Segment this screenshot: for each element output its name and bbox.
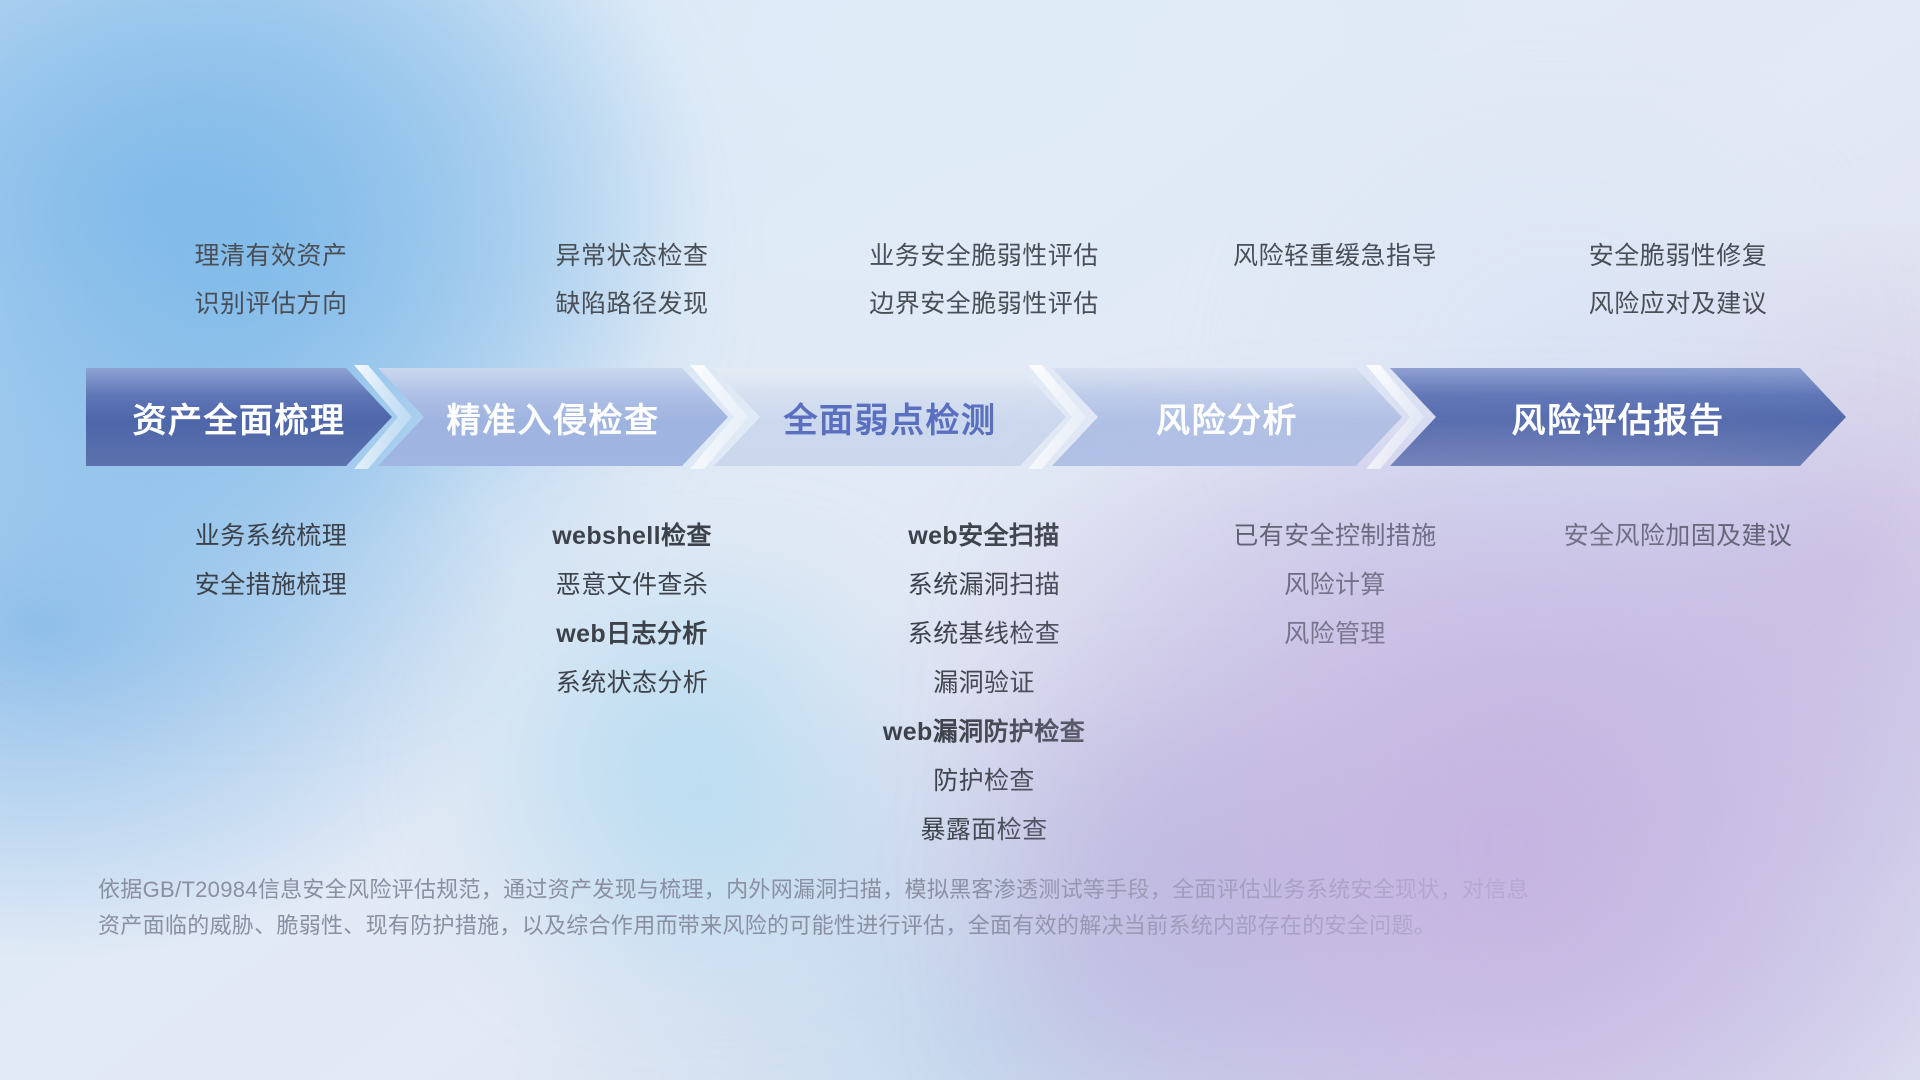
- stage-activities-intrusion-check: webshell检查 恶意文件查杀 web日志分析 系统状态分析: [456, 512, 808, 708]
- chevron-label: 资产全面梳理: [133, 393, 346, 442]
- chevron-stage-assessment-report[interactable]: 风险评估报告: [1390, 368, 1846, 466]
- activity-item: 系统漏洞扫描: [908, 561, 1060, 610]
- process-chevron-band: 资产全面梳理 精准入侵检查 全面弱点检测 风险分析 风险评估报告: [86, 368, 1846, 466]
- chevron-label: 精准入侵检查: [447, 393, 660, 442]
- activity-item: web漏洞防护检查: [883, 708, 1085, 757]
- slide-content: 理清有效资产 识别评估方向 异常状态检查 缺陷路径发现 业务安全脆弱性评估 边界…: [0, 0, 1920, 1080]
- activity-item: 已有安全控制措施: [1233, 512, 1436, 561]
- activity-item: webshell检查: [552, 512, 712, 561]
- activity-item: web日志分析: [556, 610, 707, 659]
- activity-item: 系统基线检查: [908, 610, 1060, 659]
- activity-item: 恶意文件查杀: [556, 561, 708, 610]
- slide-canvas: 理清有效资产 识别评估方向 异常状态检查 缺陷路径发现 业务安全脆弱性评估 边界…: [0, 0, 1920, 1080]
- stage-outcomes-risk-analysis: 风险轻重缓急指导: [1160, 232, 1510, 328]
- footer-line: 资产面临的威胁、脆弱性、现有防护措施，以及综合作用而带来风险的可能性进行评估，全…: [98, 908, 1688, 944]
- activity-item: 安全风险加固及建议: [1564, 512, 1793, 561]
- stage-activities-assessment-report: 安全风险加固及建议: [1510, 512, 1846, 561]
- chevron-label: 风险分析: [1156, 393, 1298, 442]
- stage-activities-weakness-detection: web安全扫描 系统漏洞扫描 系统基线检查 漏洞验证 web漏洞防护检查 防护检…: [808, 512, 1160, 855]
- chevron-stage-weakness-detection[interactable]: 全面弱点检测: [714, 368, 1066, 466]
- activity-item: 漏洞验证: [933, 659, 1035, 708]
- activity-item: 防护检查: [933, 757, 1035, 806]
- stage-outcomes-intrusion-check: 异常状态检查 缺陷路径发现: [456, 232, 808, 328]
- stage-activities-asset-inventory: 业务系统梳理 安全措施梳理: [86, 512, 456, 610]
- activity-item: 风险计算: [1284, 561, 1386, 610]
- chevron-stage-risk-analysis[interactable]: 风险分析: [1052, 368, 1402, 466]
- outcome-item: 风险应对及建议: [1589, 280, 1768, 328]
- outcome-item: 识别评估方向: [194, 280, 347, 328]
- outcome-item: 风险轻重缓急指导: [1233, 232, 1437, 280]
- stage-outcomes-assessment-report: 安全脆弱性修复 风险应对及建议: [1510, 232, 1846, 328]
- activity-item: 暴露面检查: [920, 806, 1047, 855]
- outcome-item: 边界安全脆弱性评估: [869, 280, 1099, 328]
- outcome-item: 理清有效资产: [194, 232, 347, 280]
- footer-line: 依据GB/T20984信息安全风险评估规范，通过资产发现与梳理，内外网漏洞扫描，…: [98, 872, 1688, 908]
- activity-item: 安全措施梳理: [195, 561, 347, 610]
- outcome-item: 业务安全脆弱性评估: [869, 232, 1099, 280]
- footer-description: 依据GB/T20984信息安全风险评估规范，通过资产发现与梳理，内外网漏洞扫描，…: [98, 872, 1688, 944]
- activity-item: web安全扫描: [908, 512, 1059, 561]
- outcome-item: 异常状态检查: [555, 232, 708, 280]
- stage-activities-row: 业务系统梳理 安全措施梳理 webshell检查 恶意文件查杀 web日志分析 …: [86, 512, 1846, 855]
- outcome-item: 缺陷路径发现: [555, 280, 708, 328]
- chevron-label: 全面弱点检测: [784, 393, 997, 442]
- activity-item: 业务系统梳理: [195, 512, 347, 561]
- activity-item: 系统状态分析: [556, 659, 708, 708]
- activity-item: 风险管理: [1284, 610, 1386, 659]
- chevron-stage-asset-inventory[interactable]: 资产全面梳理: [86, 368, 392, 466]
- stage-activities-risk-analysis: 已有安全控制措施 风险计算 风险管理: [1160, 512, 1510, 659]
- stage-outcomes-weakness-detection: 业务安全脆弱性评估 边界安全脆弱性评估: [808, 232, 1160, 328]
- chevron-label: 风险评估报告: [1512, 393, 1725, 442]
- stage-outcomes-asset-inventory: 理清有效资产 识别评估方向: [86, 232, 456, 328]
- chevron-stage-intrusion-check[interactable]: 精准入侵检查: [378, 368, 728, 466]
- stage-outcomes-row: 理清有效资产 识别评估方向 异常状态检查 缺陷路径发现 业务安全脆弱性评估 边界…: [86, 232, 1846, 328]
- outcome-item: 安全脆弱性修复: [1589, 232, 1768, 280]
